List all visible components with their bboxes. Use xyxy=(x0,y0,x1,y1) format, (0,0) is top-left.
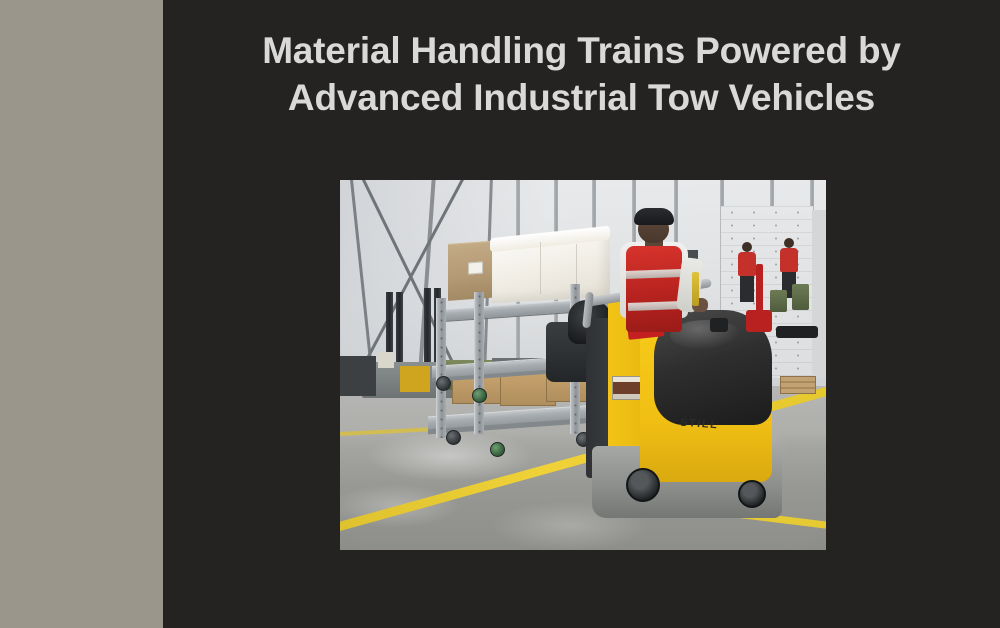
tug-wheel xyxy=(738,480,766,508)
worker-head xyxy=(742,242,752,252)
pallet-stack xyxy=(780,376,816,394)
green-bin xyxy=(792,284,809,310)
cart-post xyxy=(474,292,484,434)
worker-head xyxy=(784,238,794,248)
operator-hivis-vest xyxy=(626,246,682,332)
warehouse-photo-scene: STILL xyxy=(340,180,826,550)
safety-bollard xyxy=(692,272,699,306)
cart-caster xyxy=(490,442,505,457)
carton-label xyxy=(468,261,483,274)
worker-torso xyxy=(780,248,798,272)
tarp-fold xyxy=(540,242,541,294)
operator-cap xyxy=(634,208,674,225)
page-title-block: Material Handling Trains Powered by Adva… xyxy=(163,28,1000,122)
tug-warning-sticker xyxy=(612,376,642,400)
background-equipment xyxy=(710,318,728,332)
article-photo: STILL xyxy=(340,180,826,550)
cart-post xyxy=(436,298,446,438)
background-equipment xyxy=(776,326,818,338)
page-title: Material Handling Trains Powered by Adva… xyxy=(183,28,980,122)
worker-legs xyxy=(740,276,754,302)
left-color-band xyxy=(0,0,163,628)
background-machinery xyxy=(340,356,376,396)
green-bin xyxy=(770,290,787,312)
cart-caster xyxy=(472,388,487,403)
doorway-gap xyxy=(812,210,826,378)
background-machinery xyxy=(378,352,394,368)
cart-caster xyxy=(446,430,461,445)
cart-caster xyxy=(436,376,451,391)
slide-canvas: Material Handling Trains Powered by Adva… xyxy=(0,0,1000,628)
tug-wheel xyxy=(626,468,660,502)
background-machinery xyxy=(400,366,430,392)
red-pallet-jack xyxy=(746,310,772,332)
worker-torso xyxy=(738,252,756,276)
